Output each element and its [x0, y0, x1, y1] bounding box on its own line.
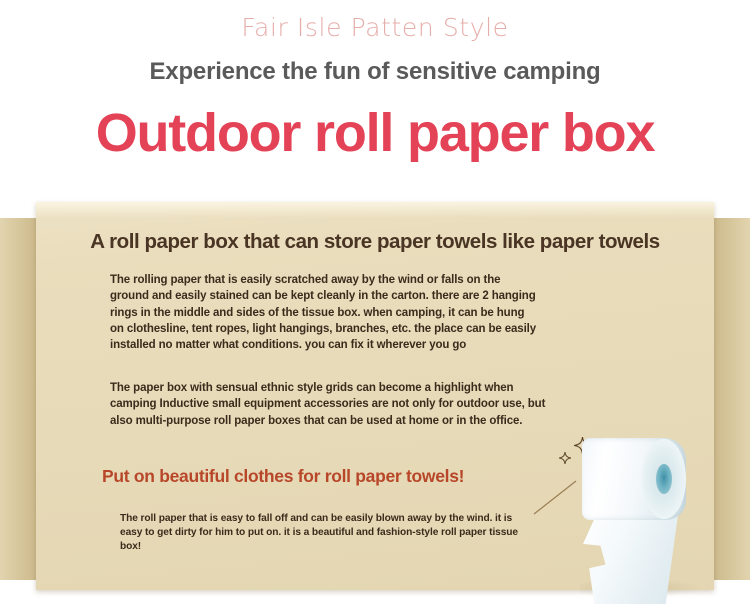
description-paragraph-1: The rolling paper that is easily scratch…: [110, 272, 540, 354]
description-paragraph-3: The roll paper that is easy to fall off …: [120, 512, 520, 553]
content-panel: A roll paper box that can store paper to…: [36, 202, 714, 590]
highlight-heading: Put on beautiful clothes for roll paper …: [102, 466, 464, 487]
page-title: Outdoor roll paper box: [0, 104, 750, 162]
page-header: Fair Isle Patten Style Experience the fu…: [0, 0, 750, 195]
section-heading: A roll paper box that can store paper to…: [44, 230, 706, 254]
eyebrow-text: Fair Isle Patten Style: [0, 13, 750, 42]
description-paragraph-2: The paper box with sensual ethnic style …: [110, 380, 550, 429]
page-subtitle: Experience the fun of sensitive camping: [0, 58, 750, 86]
